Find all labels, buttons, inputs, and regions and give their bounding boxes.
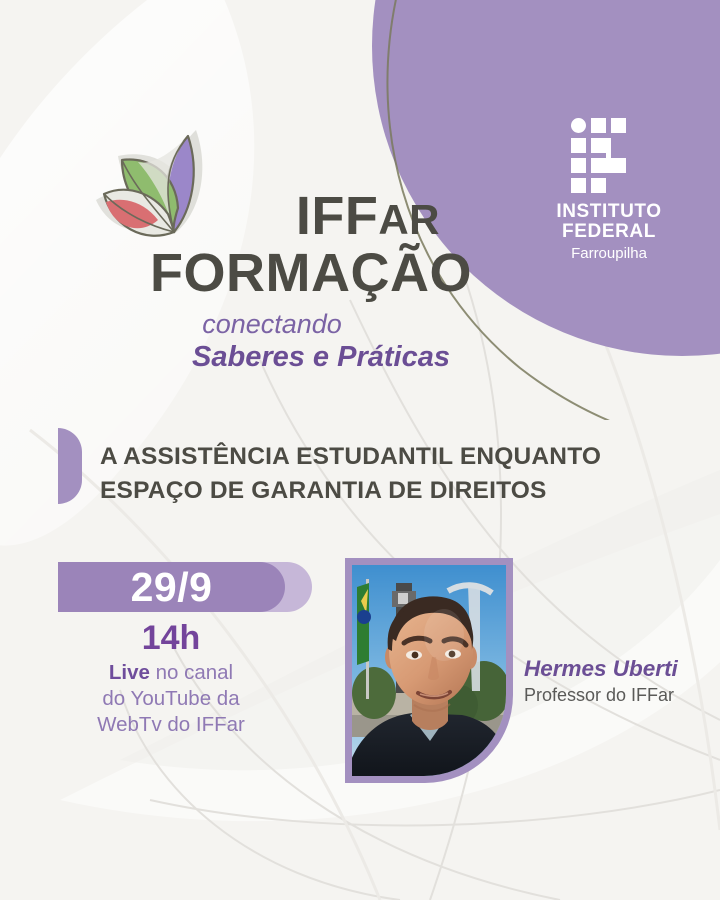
live-info-line2: do YouTube da (56, 686, 286, 712)
if-logo-campus: Farroupilha (524, 244, 694, 263)
speaker-role: Professor do IFFar (524, 683, 714, 707)
brand-name-iffar: IFFAR (96, 188, 526, 248)
speaker-name: Hermes Uberti (524, 655, 714, 682)
brand-tagline-line2: Saberes e Práticas (96, 340, 526, 374)
if-logo-line1: INSTITUTO (524, 202, 694, 221)
instituto-federal-logo: INSTITUTO FEDERAL Farroupilha (524, 118, 694, 263)
brand-tagline-line1: conectando (96, 308, 526, 340)
speaker-photo-svg (352, 565, 506, 776)
speaker-photo (352, 565, 506, 776)
brand-name-formacao: FORMAÇÃO (96, 244, 526, 302)
event-title-line2: ESPAÇO DE GARANTIA DE DIREITOS (100, 474, 680, 508)
event-title-line1: A ASSISTÊNCIA ESTUDANTIL ENQUANTO (100, 440, 680, 474)
live-info: Live no canal do YouTube da WebTv do IFF… (56, 660, 286, 738)
instituto-federal-grid-mark (571, 118, 647, 194)
live-label: Live (109, 661, 150, 684)
brand-wordmark: IFFAR FORMAÇÃO conectando Saberes e Prát… (96, 188, 526, 374)
title-accent-semicircle (58, 428, 82, 504)
brand-name-small: AR (378, 196, 440, 243)
schedule-block: 14h Live no canal do YouTube da WebTv do… (56, 618, 286, 738)
brand-name-main: IFF (296, 186, 378, 246)
if-logo-line2: FEDERAL (524, 222, 694, 241)
event-date: 29/9 (58, 562, 285, 612)
speaker-info: Hermes Uberti Professor do IFFar (524, 655, 714, 707)
event-time: 14h (56, 618, 286, 658)
live-info-line1: Live no canal (56, 660, 286, 686)
live-info-line3: WebTv do IFFar (56, 712, 286, 738)
event-title: A ASSISTÊNCIA ESTUDANTIL ENQUANTO ESPAÇO… (100, 440, 680, 508)
speaker-photo-frame (345, 558, 513, 783)
live-rest: no canal (150, 661, 233, 684)
poster-canvas: INSTITUTO FEDERAL Farroupilha (0, 0, 720, 900)
